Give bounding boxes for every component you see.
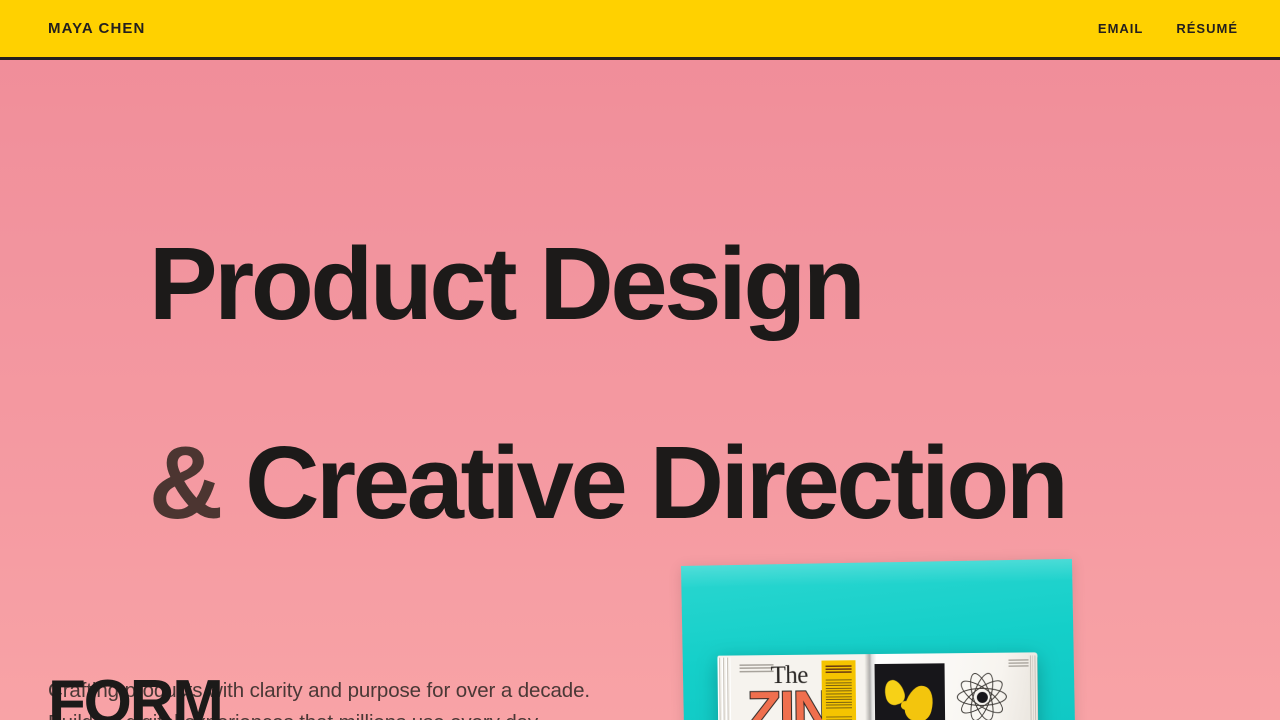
nav-link-resume[interactable]: RÉSUMÉ (1176, 22, 1238, 35)
brand-wordmark[interactable]: MAYA CHEN (48, 21, 145, 36)
site-header: MAYA CHEN EMAIL RÉSUMÉ (0, 0, 1280, 60)
section-heading-form: FORM (48, 672, 222, 720)
headline-line-2: Creative Direction (245, 425, 1065, 540)
primary-navigation: EMAIL RÉSUMÉ (1098, 22, 1238, 35)
hero-section: Product Design & Creative Direction Craf… (0, 60, 1280, 720)
headline-line-2-space (220, 425, 245, 540)
hero-subheading: Crafting products with clarity and purpo… (48, 675, 1280, 720)
headline-ampersand: & (149, 425, 220, 540)
page-title: Product Design & Creative Direction (48, 135, 1280, 632)
nav-link-email[interactable]: EMAIL (1098, 22, 1143, 35)
headline-line-1: Product Design (149, 226, 863, 341)
